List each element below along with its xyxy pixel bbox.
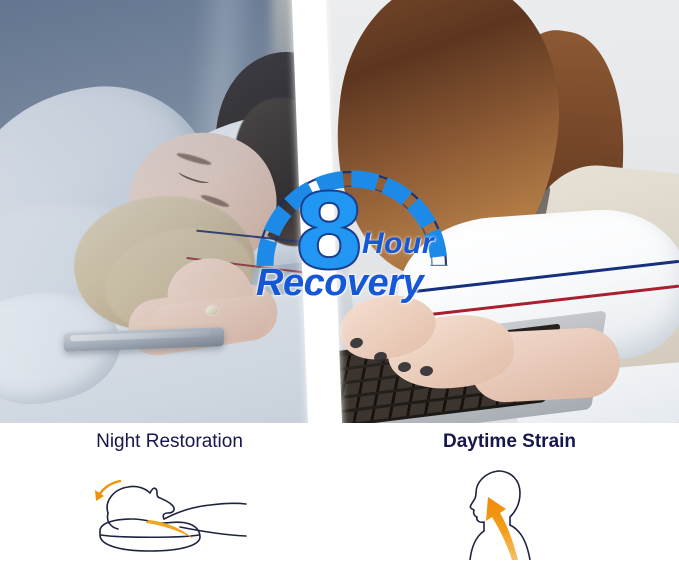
bottom-panels: Night Restoration (0, 423, 679, 562)
night-color-tint (0, 0, 332, 423)
panel-night-restoration: Night Restoration (0, 423, 339, 562)
panel-daytime-strain: Daytime Strain (340, 423, 679, 562)
woman-laptop-photo (320, 0, 679, 423)
infographic-page: 8 Hour Recovery Night Restoration (0, 0, 679, 562)
sleeping-woman-photo (0, 0, 332, 423)
panel-label-night: Night Restoration (0, 431, 339, 453)
photo-band: 8 Hour Recovery (0, 0, 679, 423)
neck-strain-icon (340, 465, 679, 560)
head-on-pillow-icon (0, 465, 339, 560)
panel-label-daytime: Daytime Strain (340, 431, 679, 453)
